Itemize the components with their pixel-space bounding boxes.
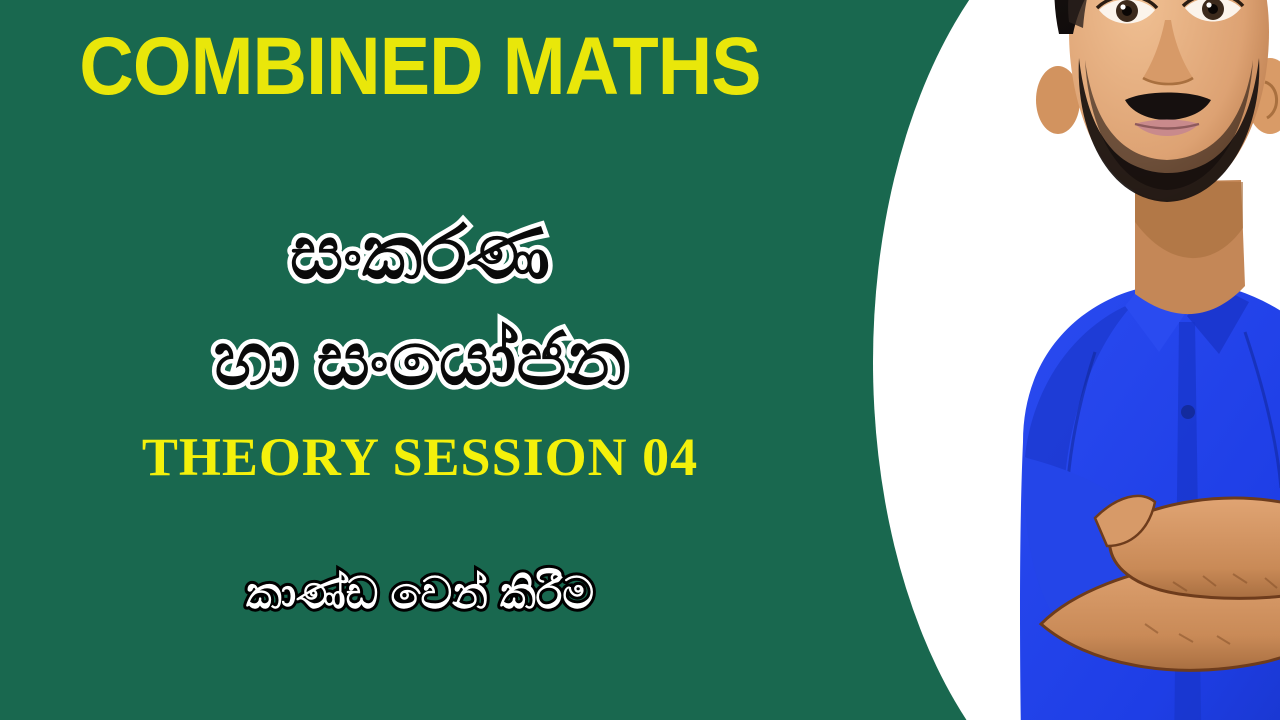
photo-panel <box>873 0 1280 720</box>
head-group <box>1036 0 1280 202</box>
sinhala-title-line-1: සංකරණ <box>0 214 840 292</box>
session-label: THEORY SESSION 04 <box>0 430 840 484</box>
portrait-illustration <box>873 0 1280 720</box>
instructor-portrait <box>873 0 1280 720</box>
sinhala-title-line-2: හා සංයෝජන <box>0 320 840 398</box>
page-title: COMBINED MATHS <box>34 26 807 108</box>
thumbnail-canvas: COMBINED MATHS සංකරණ හා සංයෝජන THEORY SE… <box>0 0 1280 720</box>
text-column: COMBINED MATHS සංකරණ හා සංයෝජන THEORY SE… <box>0 0 872 720</box>
sinhala-subtitle: කාණ්ඩ වෙන් කිරීම <box>0 570 840 618</box>
